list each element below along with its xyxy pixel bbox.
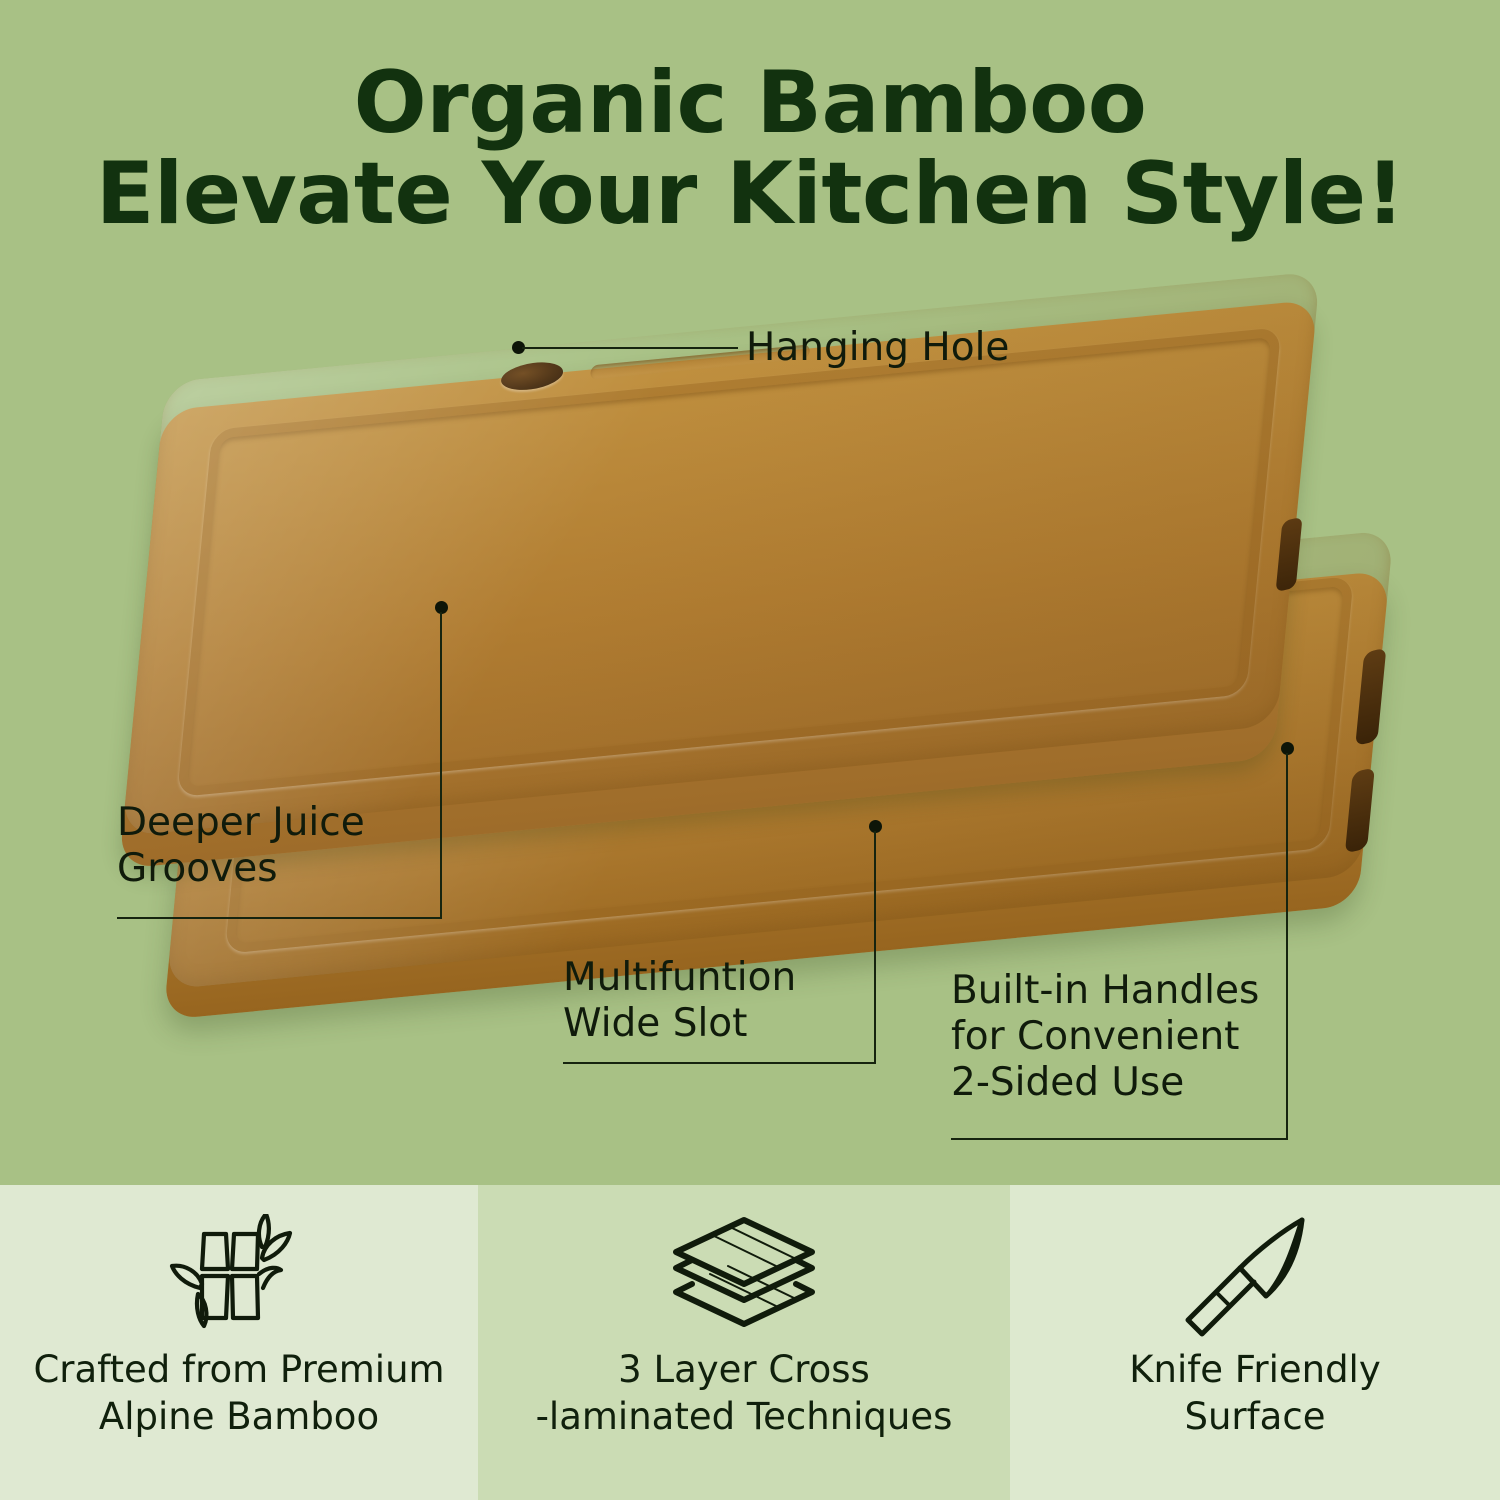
layers-stack-icon <box>664 1211 824 1341</box>
feature-bamboo-text: Crafted from Premium Alpine Bamboo <box>33 1347 444 1440</box>
callout-slot-line-1: Multifuntion <box>563 955 796 1001</box>
chef-knife-icon <box>1180 1211 1330 1341</box>
callout-handles-line-3: 2-Sided Use <box>951 1060 1259 1106</box>
wide-slot-leader-horizontal <box>563 1062 876 1064</box>
callout-slot-line-2: Wide Slot <box>563 1001 796 1047</box>
callout-deeper-juice-grooves: Deeper Juice Grooves <box>117 800 365 892</box>
infographic-page: Organic Bamboo Elevate Your Kitchen Styl… <box>0 0 1500 1500</box>
callout-multifunction-wide-slot: Multifuntion Wide Slot <box>563 955 796 1047</box>
juice-grooves-leader-vertical <box>440 612 442 919</box>
callout-hanging-hole-text: Hanging Hole <box>746 325 1009 370</box>
callout-juice-line-2: Grooves <box>117 846 365 892</box>
callout-juice-line-1: Deeper Juice <box>117 800 365 846</box>
callout-built-in-handles: Built-in Handles for Convenient 2-Sided … <box>951 968 1259 1106</box>
feature-layers-line-2: -laminated Techniques <box>536 1394 953 1441</box>
bamboo-stalk-icon <box>164 1211 314 1341</box>
juice-grooves-leader-horizontal <box>117 917 442 919</box>
feature-card-layers: 3 Layer Cross -laminated Techniques <box>478 1185 1010 1500</box>
callout-hanging-hole: Hanging Hole <box>746 325 1009 371</box>
feature-bamboo-line-2: Alpine Bamboo <box>33 1394 444 1441</box>
feature-knife-line-2: Surface <box>1129 1394 1381 1441</box>
feature-card-knife: Knife Friendly Surface <box>1010 1185 1500 1500</box>
feature-layers-text: 3 Layer Cross -laminated Techniques <box>536 1347 953 1440</box>
feature-card-bamboo: Crafted from Premium Alpine Bamboo <box>0 1185 478 1500</box>
hero-section: Organic Bamboo Elevate Your Kitchen Styl… <box>0 0 1500 1185</box>
wide-slot-leader-vertical <box>874 831 876 1064</box>
hanging-hole-leader-line <box>522 347 738 349</box>
feature-layers-line-1: 3 Layer Cross <box>536 1347 953 1394</box>
feature-bamboo-line-1: Crafted from Premium <box>33 1347 444 1394</box>
feature-knife-text: Knife Friendly Surface <box>1129 1347 1381 1440</box>
callout-handles-line-2: for Convenient <box>951 1014 1259 1060</box>
built-in-handles-leader-vertical <box>1286 753 1288 1140</box>
upper-juice-groove <box>177 327 1281 797</box>
callout-handles-line-1: Built-in Handles <box>951 968 1259 1014</box>
feature-strip: Crafted from Premium Alpine Bamboo 3 Lay… <box>0 1185 1500 1500</box>
feature-knife-line-1: Knife Friendly <box>1129 1347 1381 1394</box>
upper-hanging-hole <box>500 359 564 393</box>
built-in-handles-leader-horizontal <box>951 1138 1288 1140</box>
